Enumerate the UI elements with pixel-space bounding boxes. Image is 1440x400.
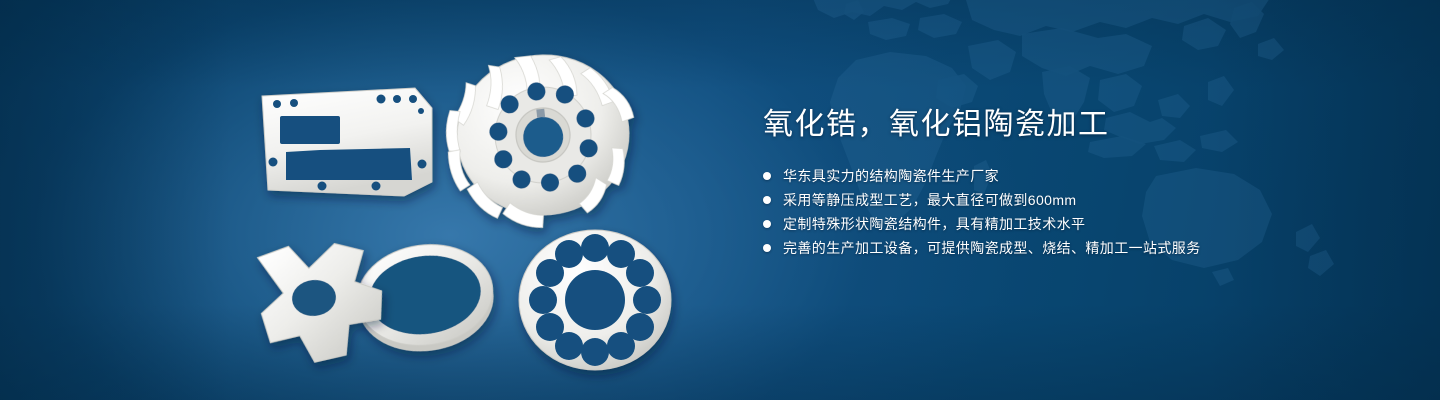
dot-bullet-icon [763, 220, 771, 228]
ceramic-impeller-shape [439, 46, 644, 237]
ceramic-cross-part-shape [255, 237, 389, 367]
ceramic-products-image [0, 0, 720, 400]
product-banner: 氧化锆，氧化铝陶瓷加工 华东具实力的结构陶瓷件生产厂家 采用等静压成型工艺，最大… [0, 0, 1440, 400]
dot-bullet-icon [763, 196, 771, 204]
list-item-label: 完善的生产加工设备，可提供陶瓷成型、烧结、精加工一站式服务 [783, 236, 1201, 260]
dot-bullet-icon [763, 244, 771, 252]
list-item-label: 定制特殊形状陶瓷结构件，具有精加工技术水平 [783, 212, 1085, 236]
ceramic-hole-disc-shape [519, 230, 671, 370]
page-title: 氧化锆，氧化铝陶瓷加工 [763, 104, 1403, 146]
list-item: 定制特殊形状陶瓷结构件，具有精加工技术水平 [763, 212, 1403, 236]
ceramic-base-plate-shape [262, 88, 432, 196]
dot-bullet-icon [763, 172, 771, 180]
list-item: 采用等静压成型工艺，最大直径可做到600mm [763, 188, 1403, 212]
list-item: 完善的生产加工设备，可提供陶瓷成型、烧结、精加工一站式服务 [763, 236, 1403, 260]
feature-list: 华东具实力的结构陶瓷件生产厂家 采用等静压成型工艺，最大直径可做到600mm 定… [763, 164, 1403, 260]
list-item: 华东具实力的结构陶瓷件生产厂家 [763, 164, 1403, 188]
list-item-label: 华东具实力的结构陶瓷件生产厂家 [783, 164, 999, 188]
banner-text-column: 氧化锆，氧化铝陶瓷加工 华东具实力的结构陶瓷件生产厂家 采用等静压成型工艺，最大… [763, 104, 1403, 260]
list-item-label: 采用等静压成型工艺，最大直径可做到600mm [783, 188, 1076, 212]
